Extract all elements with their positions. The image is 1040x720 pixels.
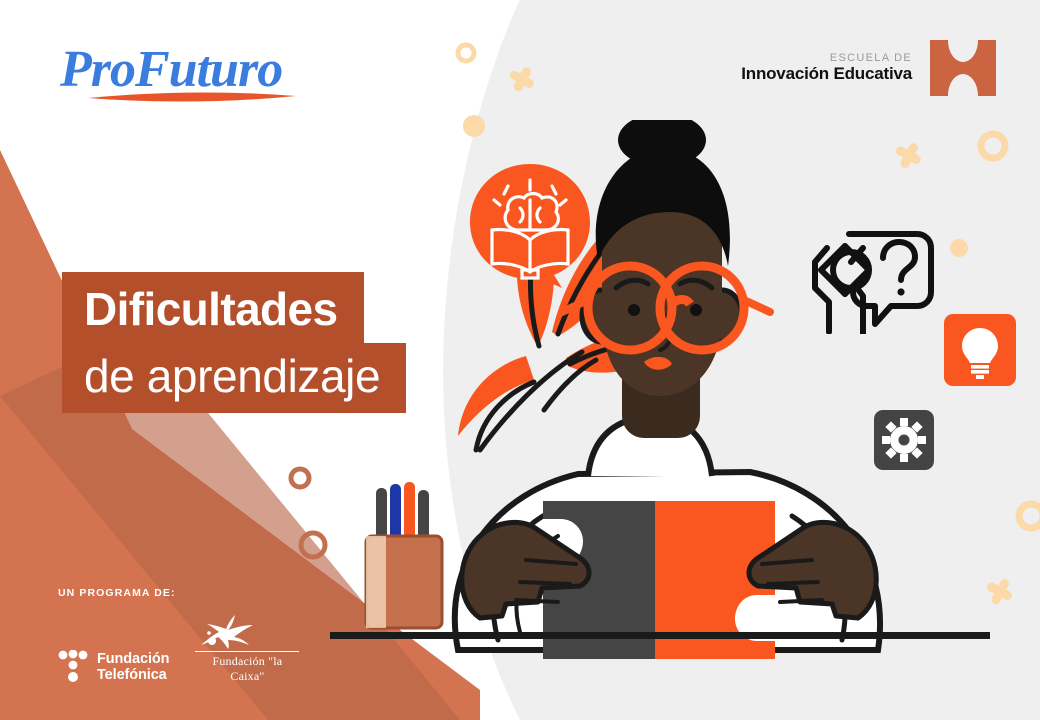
escuela-eyebrow: ESCUELA DE (741, 53, 912, 65)
svg-text:ProFuturo: ProFuturo (59, 41, 282, 98)
caixa-star-icon (195, 613, 299, 649)
footer-sponsors: UN PROGRAMA DE: Fundación Telefónica (58, 587, 299, 685)
fundacion-la-caixa-logo: Fundación "la Caixa" (195, 613, 299, 685)
caixa-name: Fundación "la Caixa" (195, 654, 299, 684)
footer-label: UN PROGRAMA DE: (58, 587, 299, 599)
lightbulb-icon (944, 314, 1016, 386)
telefonica-name-line-1: Fundación (97, 651, 169, 667)
gear-icon (874, 410, 934, 470)
escuela-name: Innovación Educativa (741, 65, 912, 83)
title-line-1: Dificultades (62, 272, 364, 344)
title-line-2: de aprendizaje (62, 343, 406, 413)
brain-book-bubble-icon (466, 160, 594, 290)
escuela-logo: ESCUELA DE Innovación Educativa (741, 38, 1000, 98)
page-title: Dificultades de aprendizaje (62, 272, 406, 413)
slide-canvas: ProFuturo ESCUELA DE Innovación Educativ… (0, 0, 1040, 720)
profuturo-logo: ProFuturo (58, 36, 328, 110)
caixa-divider (195, 651, 299, 653)
telefonica-dots-icon (58, 650, 88, 684)
fundacion-telefonica-logo: Fundación Telefónica (58, 650, 169, 684)
pencil-cup (358, 480, 450, 640)
telefonica-name-line-2: Telefónica (97, 667, 169, 683)
head-question-icon (805, 218, 937, 334)
x-logo-icon (926, 38, 1000, 98)
